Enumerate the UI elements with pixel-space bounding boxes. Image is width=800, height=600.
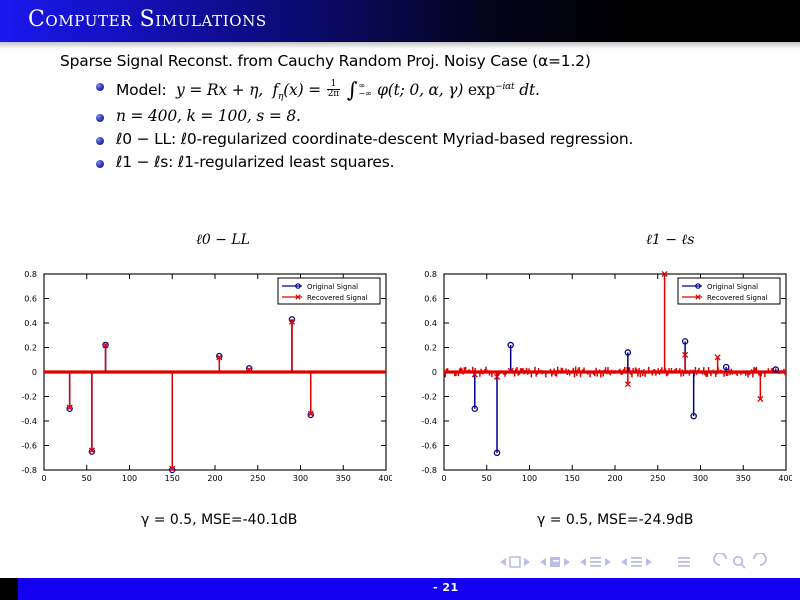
prev-frame-icon[interactable]: [540, 558, 546, 566]
legend-label: Recovered Signal: [307, 294, 368, 302]
y-axis-tick-label: -0.6: [21, 442, 37, 451]
x-axis-tick-label: 50: [82, 474, 92, 483]
x-axis-tick-label: 350: [736, 474, 751, 483]
next-frame-icon[interactable]: [564, 558, 570, 566]
y-axis-tick-label: -0.6: [421, 442, 437, 451]
figure-caption-l0-ll: γ = 0.5, MSE=-40.1dB: [141, 512, 297, 528]
prev-subsection-icon[interactable]: [580, 558, 586, 566]
y-axis-tick-label: 0.6: [24, 295, 37, 304]
plot-l1-ls: -0.8-0.6-0.4-0.200.20.40.60.805010015020…: [400, 264, 792, 502]
y-axis-tick-label: -0.4: [421, 417, 437, 426]
bullet-dot-icon: [96, 160, 104, 168]
eq-exp: exp: [468, 81, 495, 99]
y-axis-tick-label: -0.2: [421, 393, 437, 402]
legend-label: Recovered Signal: [707, 294, 768, 302]
eq-integral-limits: ∞−∞: [358, 82, 371, 98]
search-icon[interactable]: [734, 557, 742, 565]
bullet-dot-icon: [96, 137, 104, 145]
figure-caption-l1-ls: γ = 0.5, MSE=-24.9dB: [537, 512, 693, 528]
eq-eta: η,: [249, 81, 263, 99]
x-axis-tick-label: 100: [522, 474, 537, 483]
x-axis-tick-label: 0: [41, 474, 46, 483]
bullet-list: Model: y = Rx + η, fη(x) = 12π ∫∞−∞ φ(t;…: [0, 76, 800, 171]
x-axis-tick-label: 150: [165, 474, 180, 483]
y-axis-tick-label: -0.4: [21, 417, 37, 426]
eq-fraction: 12π: [327, 80, 340, 100]
y-axis-tick-label: 0.8: [424, 270, 437, 279]
x-axis-tick-label: 200: [607, 474, 622, 483]
bullet-label-params: n = 400, k = 100, s = 8.: [116, 107, 301, 125]
frame-box-icon[interactable]: [550, 557, 560, 567]
eq-exp-exponent: −iαt: [495, 82, 514, 92]
search-handle-icon: [741, 564, 745, 568]
x-axis-tick-label: 50: [482, 474, 492, 483]
y-axis-tick-label: -0.2: [21, 393, 37, 402]
plot-legend: Original SignalRecovered Signal: [278, 278, 380, 304]
y-axis-tick-label: 0.6: [424, 295, 437, 304]
x-axis-tick-label: 150: [565, 474, 580, 483]
forward-icon[interactable]: [754, 553, 766, 565]
model-equation: y = Rx + η, fη(x) = 12π ∫∞−∞ φ(t; 0, α, …: [171, 81, 539, 99]
next-subsection-icon[interactable]: [605, 558, 611, 566]
section-box-icon[interactable]: [631, 557, 642, 567]
toc-icon[interactable]: [678, 557, 690, 567]
slide-body: Sparse Signal Reconst. from Cauchy Rando…: [0, 52, 800, 176]
legend-label: Original Signal: [707, 283, 758, 291]
bullet-label-l1ls: ℓ1 − ℓs: ℓ1-regularized least squares.: [116, 153, 394, 171]
x-axis-tick-label: 400: [778, 474, 792, 483]
footer-black-block: [0, 578, 18, 600]
bullet-item-model: Model: y = Rx + η, fη(x) = 12π ∫∞−∞ φ(t;…: [96, 76, 800, 102]
plot-canvas-l1-ls: -0.8-0.6-0.4-0.200.20.40.60.805010015020…: [400, 264, 792, 502]
eq-equals: =: [189, 81, 202, 99]
slide-title-bar: Computer Simulations: [0, 0, 800, 42]
x-axis-tick-label: 300: [293, 474, 308, 483]
x-axis-tick-label: 250: [250, 474, 265, 483]
legend-label: Original Signal: [307, 283, 358, 291]
footer-bar: [0, 578, 800, 600]
eq-rx: Rx: [207, 81, 227, 99]
eq-fraction-denominator: 2π: [327, 90, 340, 99]
x-axis-tick-label: 200: [207, 474, 222, 483]
y-axis-tick-label: 0.2: [424, 344, 437, 353]
bullet-dot-icon: [96, 83, 104, 91]
bullet-label-model: Model:: [116, 81, 167, 99]
bullet-dot-icon: [96, 114, 104, 122]
x-axis-tick-label: 400: [378, 474, 392, 483]
figure-title-l1-ls: ℓ1 − ℓs: [646, 232, 694, 249]
next-section-icon[interactable]: [646, 558, 652, 566]
prev-slide-icon[interactable]: [500, 558, 506, 566]
body-headline: Sparse Signal Reconst. from Cauchy Rando…: [60, 52, 800, 70]
bullet-item-l1ls: ℓ1 − ℓs: ℓ1-regularized least squares.: [96, 153, 800, 171]
eq-equals-2: =: [308, 81, 321, 99]
slide-box-icon[interactable]: [510, 557, 520, 567]
page-title: Computer Simulations: [28, 7, 267, 32]
eq-plus: +: [232, 81, 245, 99]
x-axis-tick-label: 250: [650, 474, 665, 483]
bullet-label-l0ll: ℓ0 − LL: ℓ0-regularized coordinate-desce…: [116, 130, 633, 148]
plot-l0-ll: -0.8-0.6-0.4-0.200.20.40.60.805010015020…: [0, 264, 392, 502]
eq-y: y: [176, 81, 185, 99]
eq-dt: dt.: [519, 81, 539, 99]
eq-phi-args: (t; 0, α, γ): [388, 81, 463, 99]
y-axis-tick-label: 0: [32, 368, 37, 377]
plot-legend: Original SignalRecovered Signal: [678, 278, 780, 304]
prev-section-icon[interactable]: [621, 558, 627, 566]
x-axis-tick-label: 0: [441, 474, 446, 483]
eq-phi: φ: [377, 81, 388, 99]
subsection-box-icon[interactable]: [590, 557, 601, 567]
plot-canvas-l0-ll: -0.8-0.6-0.4-0.200.20.40.60.805010015020…: [0, 264, 392, 502]
back-icon[interactable]: [714, 553, 726, 565]
x-axis-tick-label: 300: [693, 474, 708, 483]
y-axis-tick-label: 0.8: [24, 270, 37, 279]
y-axis-tick-label: 0.2: [24, 344, 37, 353]
integral-icon: ∫: [347, 78, 358, 102]
figure-title-l0-ll: ℓ0 − LL: [196, 232, 250, 249]
x-axis-tick-label: 100: [122, 474, 137, 483]
eq-integral-lower: −∞: [358, 90, 371, 98]
y-axis-tick-label: -0.8: [21, 466, 37, 475]
title-bar-shadow: [0, 42, 800, 49]
frame-box-line: [553, 560, 559, 562]
eq-f-arg: (x): [283, 81, 303, 99]
y-axis-tick-label: 0: [432, 368, 437, 377]
y-axis-tick-label: 0.4: [424, 319, 437, 328]
next-slide-icon[interactable]: [524, 558, 530, 566]
bullet-item-params: n = 400, k = 100, s = 8.: [96, 107, 800, 125]
page-number: - 21: [433, 581, 459, 594]
beamer-navigation-bar[interactable]: [498, 553, 788, 571]
x-axis-tick-label: 350: [336, 474, 351, 483]
y-axis-tick-label: -0.8: [421, 466, 437, 475]
bullet-item-l0ll: ℓ0 − LL: ℓ0-regularized coordinate-desce…: [96, 130, 800, 148]
y-axis-tick-label: 0.4: [24, 319, 37, 328]
